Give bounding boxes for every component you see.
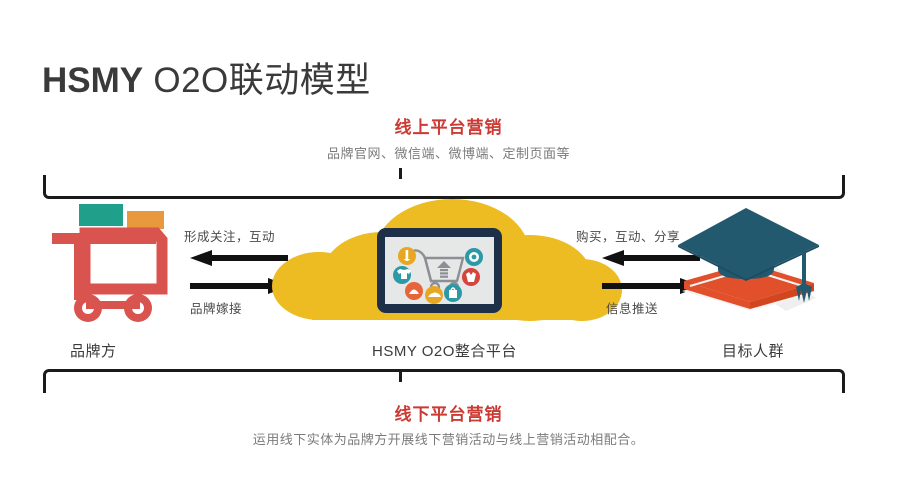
diagram-canvas: HSMY O2O联动模型 线上平台营销 品牌官网、微信端、微博端、定制页面等 形… [0,0,897,497]
page-title-brand: HSMY [42,61,143,100]
bottom-bracket-tick [399,369,402,382]
left-top-arrow-label: 形成关注，互动 [184,226,275,245]
bottom-bracket [43,369,845,393]
right-top-arrow-label: 购买，互动、分享 [576,226,680,245]
top-bracket-tick [399,168,402,179]
zone-label-platform: HSMY O2O整合平台 [372,340,517,361]
page-title: HSMY O2O联动模型 [42,52,371,103]
graduation-cap-book-icon [676,203,826,325]
page-title-rest: O2O联动模型 [143,61,371,100]
right-bottom-arrow-label: 信息推送 [606,298,658,317]
shopping-cart-icon [52,204,172,322]
offline-marketing-heading: 线下平台营销 [0,400,897,425]
online-marketing-heading: 线上平台营销 [0,113,897,138]
top-bracket [43,175,845,199]
tablet-icon [377,228,502,313]
zone-label-target: 目标人群 [722,340,784,361]
offline-marketing-subtitle: 运用线下实体为品牌方开展线下营销活动与线上营销活动相配合。 [0,429,897,448]
tablet-screen [385,237,494,304]
online-marketing-subtitle: 品牌官网、微信端、微博端、定制页面等 [0,143,897,162]
zone-label-brand: 品牌方 [70,340,117,361]
left-bottom-arrow-label: 品牌嫁接 [190,298,242,317]
